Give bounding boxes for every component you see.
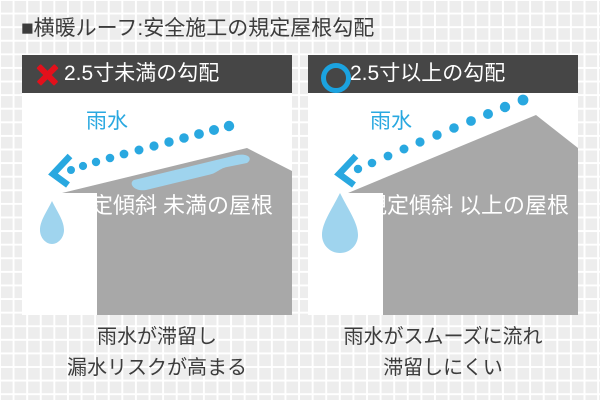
illustration-insufficient-slope: 雨水 規定傾斜 未満の屋根: [22, 93, 292, 315]
flow-arrow-icon: [339, 156, 356, 185]
diagram-page: ■横暖ルーフ:安全施工の規定屋根勾配 2.5寸未満の勾配: [0, 0, 600, 400]
caption-sufficient-slope: 雨水がスムーズに流れ 滞留しにくい: [308, 322, 578, 384]
page-title: ■横暖ルーフ:安全施工の規定屋根勾配: [21, 16, 374, 42]
roof-illustration-shallow: [22, 93, 292, 315]
circle-mark-icon: [320, 61, 346, 87]
rain-water-label: 雨水: [370, 111, 412, 133]
panel-insufficient-slope: 2.5寸未満の勾配: [22, 55, 292, 315]
cross-mark-icon: [34, 61, 60, 87]
illustration-sufficient-slope: 雨水 規定傾斜 以上の屋根: [308, 93, 578, 315]
roof-illustration-steep: [308, 93, 578, 315]
panel-header-sufficient: 2.5寸以上の勾配: [308, 55, 578, 93]
panel-header-insufficient: 2.5寸未満の勾配: [22, 55, 292, 93]
water-droplet: [322, 193, 358, 253]
panel-header-label: 2.5寸以上の勾配: [350, 63, 505, 85]
panel-sufficient-slope: 2.5寸以上の勾配: [308, 55, 578, 315]
caption-insufficient-slope: 雨水が滞留し 漏水リスクが高まる: [22, 322, 292, 384]
rain-water-label: 雨水: [86, 111, 128, 133]
panel-header-label: 2.5寸未満の勾配: [64, 63, 219, 85]
water-droplet: [40, 201, 64, 244]
roof-shape-steep: [348, 115, 578, 315]
